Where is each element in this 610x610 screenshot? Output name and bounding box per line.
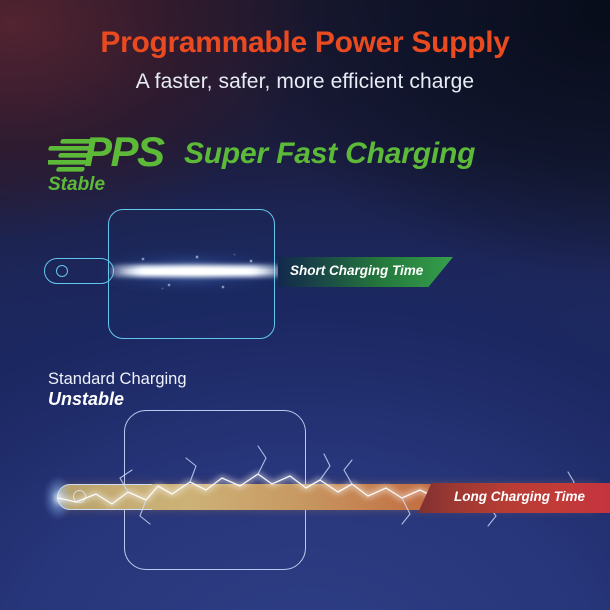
pps-plug-cable-icon [44, 258, 114, 284]
short-charging-time-label: Short Charging Time [290, 263, 423, 278]
unstable-status-label: Unstable [48, 389, 124, 410]
long-charging-time-banner: Long Charging Time [418, 483, 610, 513]
pps-charger-outline [108, 209, 275, 339]
page-subtitle: A faster, safer, more efficient charge [0, 70, 610, 94]
brand-row: PPS Super Fast Charging [48, 130, 588, 190]
plug-tip-glow-icon [44, 476, 72, 520]
super-fast-charging-tagline: Super Fast Charging [184, 134, 475, 174]
stable-status-label: Stable [48, 174, 105, 196]
promo-graphic: Programmable Power Supply A faster, safe… [0, 0, 610, 610]
short-charging-time-banner: Short Charging Time [278, 257, 453, 287]
plug-contact-dot [56, 265, 68, 277]
plug-contact-dot [73, 490, 86, 503]
standard-charging-heading: Standard Charging [48, 370, 187, 389]
pps-logo-text: PPS [84, 130, 164, 174]
page-title: Programmable Power Supply [0, 26, 610, 60]
long-charging-time-label: Long Charging Time [454, 489, 585, 504]
